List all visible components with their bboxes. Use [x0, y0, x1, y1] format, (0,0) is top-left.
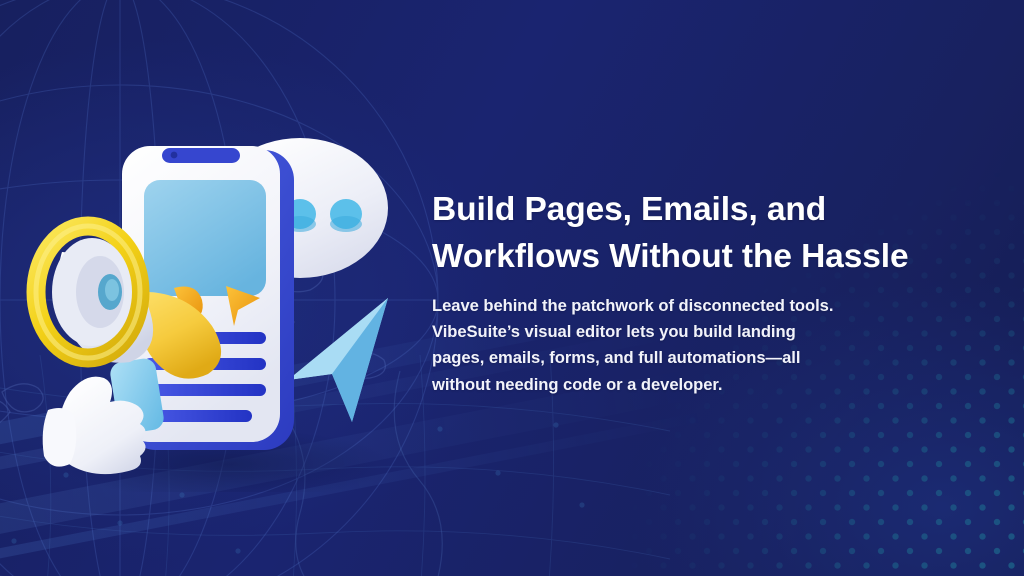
- phone-text-bar: [144, 384, 266, 396]
- hero-banner: Build Pages, Emails, and Workflows Witho…: [0, 0, 1024, 576]
- paper-plane-icon: [288, 298, 388, 422]
- hero-copy: Build Pages, Emails, and Workflows Witho…: [432, 186, 952, 398]
- hero-illustration: [22, 92, 442, 492]
- hero-description: Leave behind the patchwork of disconnect…: [432, 293, 952, 398]
- page-title: Build Pages, Emails, and Workflows Witho…: [432, 186, 952, 280]
- phone-screen-panel: [144, 180, 266, 296]
